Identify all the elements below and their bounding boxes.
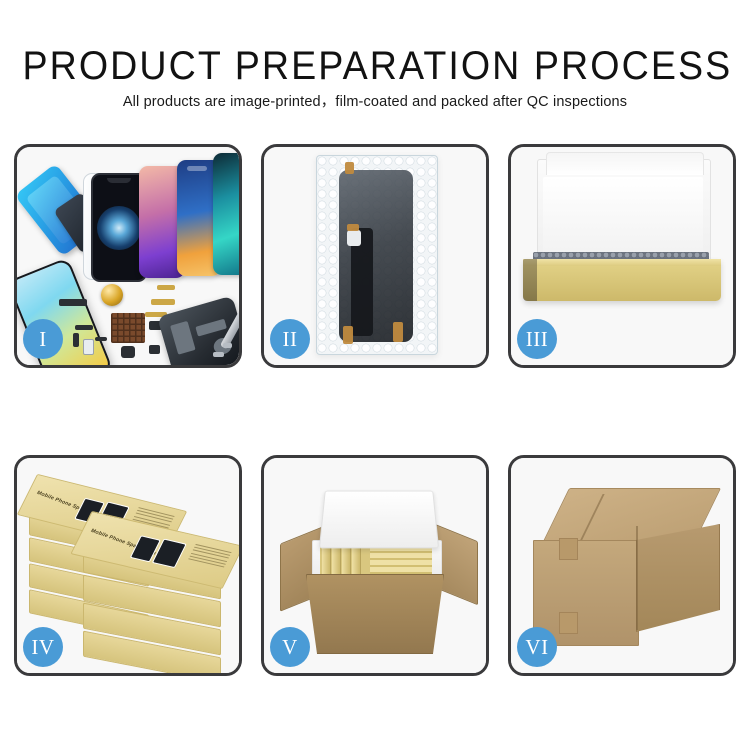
camera-part: [121, 346, 135, 358]
bubble-wrap-bag: [316, 155, 438, 355]
step-badge-5: V: [270, 627, 310, 667]
chip-grid-part: [111, 313, 145, 343]
screw-part-a: [213, 352, 224, 357]
step-badge-2: II: [270, 319, 310, 359]
sealed-carton: [533, 488, 719, 648]
box-spec-lines-front: [187, 544, 232, 569]
step-badge-6: VI: [517, 627, 557, 667]
sim-tray-part: [83, 339, 94, 355]
phone-teal: [213, 153, 239, 275]
step-badge-3: III: [517, 319, 557, 359]
foam-lid-open: [319, 491, 439, 549]
flex-cable-gold-a: [151, 299, 175, 305]
speaker-part: [59, 299, 87, 306]
wrapped-connector: [347, 230, 361, 246]
carton-corner-edge: [636, 526, 638, 630]
flex-part-a: [75, 325, 93, 330]
screw-part-b: [223, 343, 232, 348]
step-panel-2[interactable]: II: [261, 144, 489, 368]
carton-right-face: [636, 524, 720, 632]
yellow-box-base: [523, 259, 721, 301]
step-panel-4[interactable]: Mobile Phone Spare Parts Mobile Phone Sp…: [14, 455, 242, 676]
tape-tab-bottom-right: [393, 322, 403, 342]
coil-part: [101, 284, 123, 306]
step-panel-5[interactable]: V: [261, 455, 489, 676]
tape-tab-mid: [347, 224, 359, 231]
step-badge-4: IV: [23, 627, 63, 667]
step-panel-1[interactable]: I: [14, 144, 242, 368]
step-badge-1: I: [23, 319, 63, 359]
process-step-grid: I II III: [0, 0, 750, 750]
open-carton: [282, 486, 472, 658]
flex-cable-gold-b: [157, 285, 175, 290]
phone-back-housing: [157, 296, 239, 365]
small-chip-part: [149, 345, 160, 354]
flex-part-b: [73, 333, 79, 347]
flex-part-c: [95, 337, 107, 341]
step-panel-3[interactable]: III: [508, 144, 736, 368]
carton-tape-lower: [559, 612, 578, 634]
tape-tab-top: [345, 162, 354, 174]
tape-tab-bottom-left: [343, 326, 353, 344]
carton-body: [306, 574, 444, 654]
yellow-box-side-shadow: [523, 259, 537, 301]
carton-tape-upper: [559, 538, 578, 560]
step-panel-6[interactable]: VI: [508, 455, 736, 676]
box-foam-sheet: [543, 177, 703, 263]
